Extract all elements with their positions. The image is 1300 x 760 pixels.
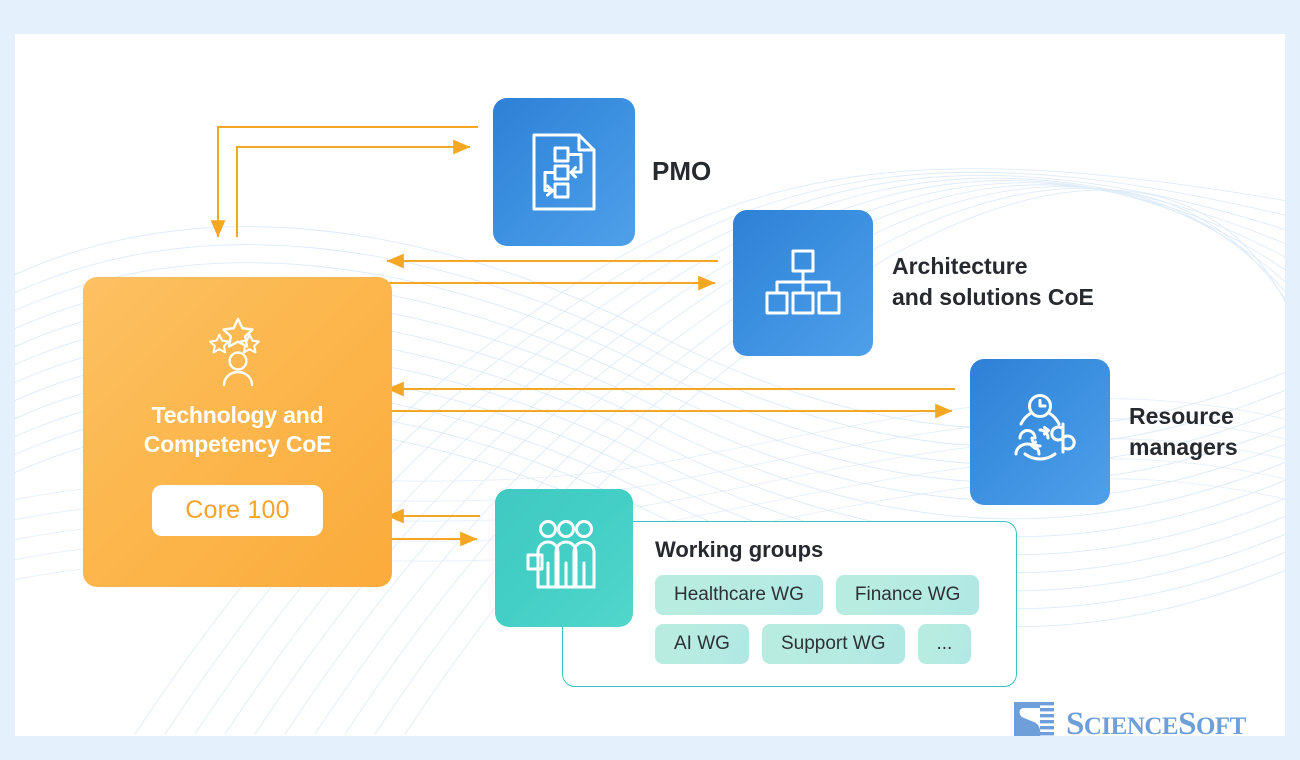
diagram-card: Technology and Competency CoE Core 100 P… bbox=[15, 34, 1285, 736]
resource-managers-label: Resource managers bbox=[1129, 401, 1238, 463]
wg-tag-more[interactable]: ... bbox=[918, 624, 972, 664]
people-group-icon bbox=[524, 519, 604, 597]
pmo-node[interactable] bbox=[493, 98, 635, 246]
wg-tag-ai[interactable]: AI WG bbox=[655, 624, 749, 664]
core-100-badge[interactable]: Core 100 bbox=[152, 485, 322, 536]
working-groups-title: Working groups bbox=[655, 537, 823, 563]
arch-label-line2: and solutions CoE bbox=[892, 282, 1094, 313]
logo-cience: CIENCE bbox=[1084, 713, 1178, 737]
coe-title: Technology and Competency CoE bbox=[144, 401, 332, 459]
logo-s2: S bbox=[1178, 706, 1196, 737]
coe-title-line2: Competency CoE bbox=[144, 430, 332, 459]
resource-cycle-icon bbox=[999, 392, 1081, 472]
res-label-line2: managers bbox=[1129, 432, 1238, 463]
working-groups-tag-list: Healthcare WG Finance WG AI WG Support W… bbox=[655, 575, 1005, 664]
arch-label-line1: Architecture bbox=[892, 251, 1094, 282]
pmo-label: PMO bbox=[652, 156, 711, 187]
sciencesoft-logo-mark bbox=[1010, 700, 1056, 736]
person-with-stars-icon bbox=[199, 311, 277, 389]
coe-title-line1: Technology and bbox=[144, 401, 332, 430]
resource-managers-node[interactable] bbox=[970, 359, 1110, 505]
org-chart-icon bbox=[764, 248, 842, 318]
document-workflow-icon bbox=[527, 131, 601, 213]
architecture-solutions-coe-label: Architecture and solutions CoE bbox=[892, 251, 1094, 313]
architecture-solutions-coe-node[interactable] bbox=[733, 210, 873, 356]
working-groups-node[interactable] bbox=[495, 489, 633, 627]
logo-s1: S bbox=[1066, 706, 1084, 737]
sciencesoft-logo: SCIENCESOFT bbox=[1010, 700, 1246, 736]
res-label-line1: Resource bbox=[1129, 401, 1238, 432]
technology-competency-coe-node[interactable]: Technology and Competency CoE Core 100 bbox=[83, 277, 392, 587]
wg-tag-finance[interactable]: Finance WG bbox=[836, 575, 980, 615]
logo-oft: OFT bbox=[1196, 713, 1246, 737]
wg-tag-support[interactable]: Support WG bbox=[762, 624, 905, 664]
wg-tag-healthcare[interactable]: Healthcare WG bbox=[655, 575, 823, 615]
sciencesoft-wordmark: SCIENCESOFT bbox=[1066, 706, 1246, 737]
